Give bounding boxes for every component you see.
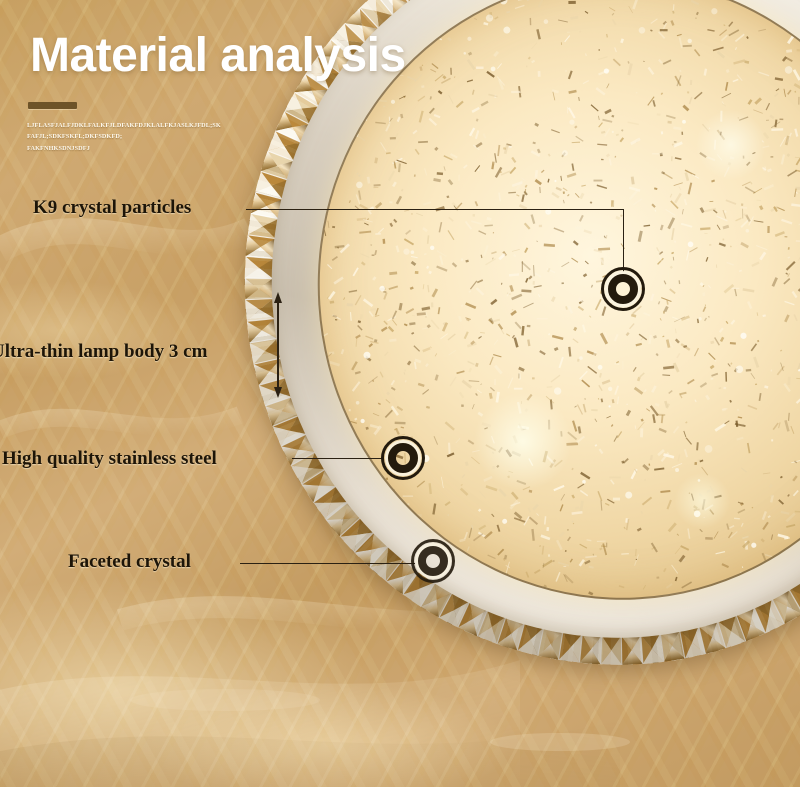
leader-line-k9-vertical xyxy=(623,209,624,272)
arrow-shaft xyxy=(277,300,279,390)
dimension-arrow-lamp-thickness xyxy=(270,292,286,398)
subtitle-line-3: FAKFNHKSDNJSDFJ xyxy=(27,143,357,154)
title-divider xyxy=(28,102,77,109)
subtitle-placeholder-text: LJFLASFJALFJDKLFALKFJLDFAKFDJKLALFKJASLK… xyxy=(27,120,357,154)
subtitle-line-1: LJFLASFJALFJDKLFALKFJLDFAKFDJKLALFKJASLK… xyxy=(27,120,357,131)
bottom-white-band xyxy=(0,787,800,800)
product-photo xyxy=(0,0,800,787)
bullseye-marker-k9 xyxy=(601,267,645,311)
subtitle-line-2: FAFJL;SDKFSKFL;DKFSDKFD; xyxy=(27,131,357,142)
leader-line-k9-horizontal xyxy=(246,209,624,210)
bullseye-marker-steel xyxy=(381,436,425,480)
arrow-head-down-icon xyxy=(274,387,282,398)
annotation-label-ultra-thin-lamp-body: Ultra-thin lamp body 3 cm xyxy=(0,341,207,363)
annotation-label-faceted-crystal: Faceted crystal xyxy=(68,551,191,573)
leader-line-steel xyxy=(292,458,384,459)
leader-line-faceted xyxy=(240,563,415,564)
annotation-label-stainless-steel: High quality stainless steel xyxy=(2,448,217,470)
material-analysis-infographic: Material analysis LJFLASFJALFJDKLFALKFJL… xyxy=(0,0,800,800)
bullseye-marker-faceted xyxy=(411,539,455,583)
page-title: Material analysis xyxy=(30,32,406,80)
annotation-label-k9-crystal-particles: K9 crystal particles xyxy=(33,197,191,219)
